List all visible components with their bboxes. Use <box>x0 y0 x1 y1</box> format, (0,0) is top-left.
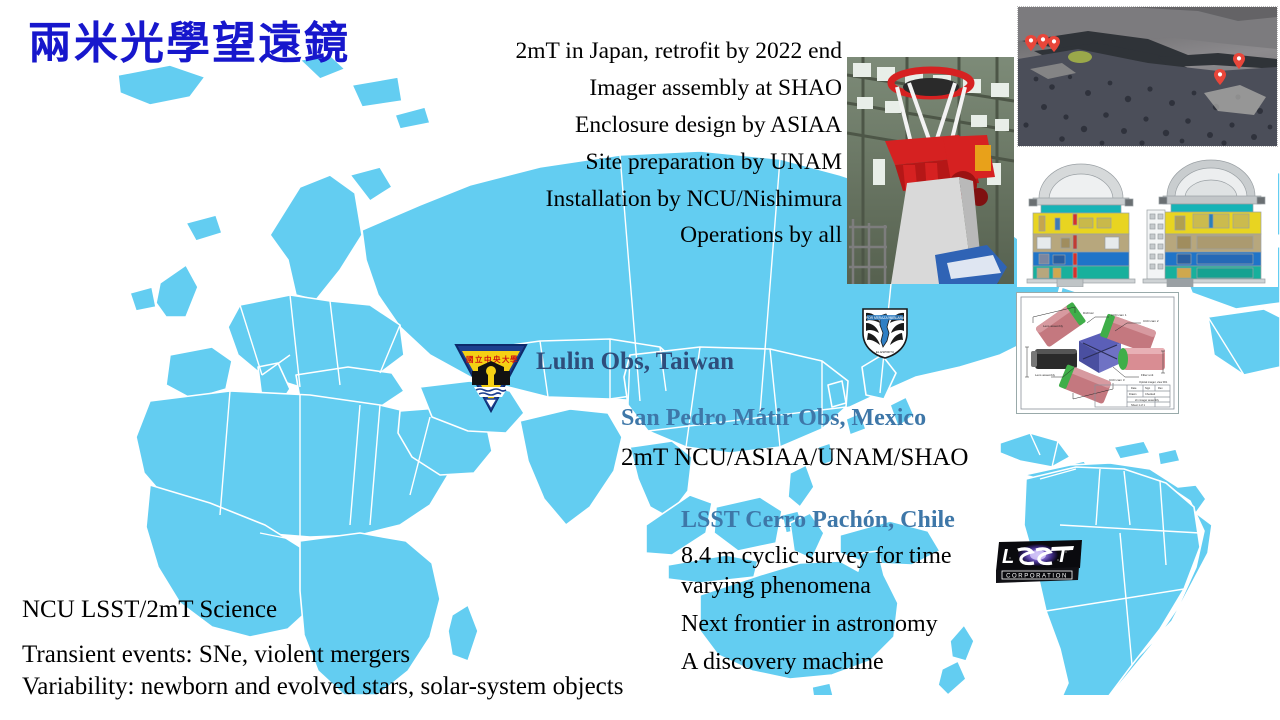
role-line-6: Operations by all <box>412 217 842 254</box>
svg-text:L: L <box>1002 546 1014 568</box>
svg-text:CCD cam 3: CCD cam 3 <box>1109 378 1125 382</box>
svg-text:2m imager assembly: 2m imager assembly <box>1135 398 1160 402</box>
lsst-logo-subtext: CORPORATION <box>1006 573 1068 579</box>
telescope-photo <box>847 57 1014 284</box>
lulin-observatory-logo: 國立中 央大學 <box>452 341 530 415</box>
svg-text:國: 國 <box>466 355 474 364</box>
svg-text:Sign: Sign <box>1145 386 1151 390</box>
san-pedro-martir-title: San Pedro Mátir Obs, Mexico <box>621 405 926 432</box>
svg-text:學: 學 <box>510 354 518 364</box>
lsst-description: 8.4 m cyclic survey for time varying phe… <box>681 541 1001 677</box>
svg-text:立: 立 <box>475 354 483 364</box>
project-roles-list: 2mT in Japan, retrofit by 2022 end Image… <box>412 33 842 254</box>
lsst-line-2: Next frontier in astronomy <box>681 609 1001 639</box>
lsst-corporation-logo: L T CORPORATION <box>996 540 1082 583</box>
role-line-5: Installation by NCU/Nishimura <box>412 181 842 218</box>
svg-text:Sheet 1 of 1: Sheet 1 of 1 <box>1131 403 1146 407</box>
svg-text:Date: Date <box>1131 386 1137 390</box>
enclosure-design-diagram <box>1017 152 1278 287</box>
svg-text:POR MI RAZA HABLARA: POR MI RAZA HABLARA <box>866 316 905 320</box>
svg-text:Rev: Rev <box>1158 386 1163 390</box>
role-line-4: Site preparation by UNAM <box>412 144 842 181</box>
role-line-1: 2mT in Japan, retrofit by 2022 end <box>412 33 842 70</box>
svg-text:CCD cam 2: CCD cam 2 <box>1143 319 1159 323</box>
svg-text:Lens assembly: Lens assembly <box>1035 373 1056 377</box>
svg-text:Dichroic: Dichroic <box>1083 311 1094 315</box>
science-heading: NCU LSST/2mT Science <box>22 596 277 624</box>
science-line-1: Transient events: SNe, violent mergers <box>22 639 623 671</box>
svg-text:Checked: Checked <box>1145 392 1156 396</box>
lsst-line-3: A discovery machine <box>681 647 1001 677</box>
unam-shield-logo: POR MI RAZA HABLARA EL ESPIRITU <box>856 303 914 361</box>
san-pedro-martir-subtitle: 2mT NCU/ASIAA/UNAM/SHAO <box>621 444 969 472</box>
slide-title: 兩米光學望遠鏡 <box>28 20 350 68</box>
aerial-site-photo <box>1017 6 1278 147</box>
science-line-2: Variability: newborn and evolved stars, … <box>22 671 623 703</box>
imager-cad-drawing: Lens assembly CCD cam 1 CCD cam 2 Lens a… <box>1016 292 1179 414</box>
presentation-slide: 兩米光學望遠鏡 2mT in Japan, retrofit by 2022 e… <box>0 0 1280 720</box>
svg-text:EL ESPIRITU: EL ESPIRITU <box>876 350 894 354</box>
svg-text:Drawn: Drawn <box>1129 392 1137 396</box>
role-line-2: Imager assembly at SHAO <box>412 70 842 107</box>
svg-text:Filter unit: Filter unit <box>1141 373 1154 377</box>
lsst-line-1: 8.4 m cyclic survey for time varying phe… <box>681 541 1001 601</box>
science-bullets: Transient events: SNe, violent mergers V… <box>22 639 623 703</box>
svg-text:大: 大 <box>502 354 510 364</box>
svg-text:CCD cam 1: CCD cam 1 <box>1111 313 1127 317</box>
lsst-title: LSST Cerro Pachón, Chile <box>681 507 955 534</box>
svg-text:Optical imager, view 001: Optical imager, view 001 <box>1139 380 1168 384</box>
svg-text:Lens assembly: Lens assembly <box>1043 324 1064 328</box>
role-line-3: Enclosure design by ASIAA <box>412 107 842 144</box>
lulin-obs-label: Lulin Obs, Taiwan <box>536 348 734 376</box>
